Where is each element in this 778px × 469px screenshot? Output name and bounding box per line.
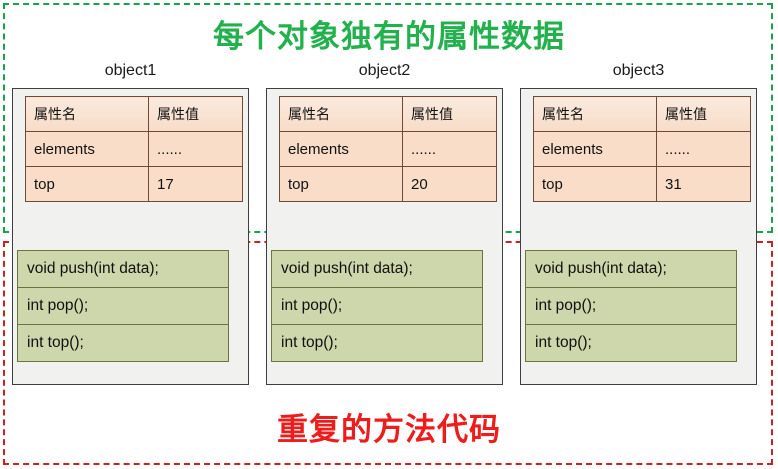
header-attr-name: 属性名 — [26, 97, 149, 132]
method-signature: int pop(); — [272, 288, 483, 325]
attr-name: elements — [26, 132, 149, 167]
method-row: int top(); — [18, 325, 229, 362]
object-label-2: object2 — [266, 62, 503, 80]
method-signature: int top(); — [526, 325, 737, 362]
table-row: top 17 — [26, 167, 243, 202]
header-attr-value: 属性值 — [403, 97, 497, 132]
method-signature: int top(); — [272, 325, 483, 362]
method-signature: int pop(); — [18, 288, 229, 325]
method-row: int top(); — [526, 325, 737, 362]
attr-name: top — [280, 167, 403, 202]
object-label-1: object1 — [12, 62, 249, 80]
method-region-title: 重复的方法代码 — [0, 404, 778, 449]
method-row: int pop(); — [18, 288, 229, 325]
table-header-row: 属性名 属性值 — [280, 97, 497, 132]
attribute-table-2: 属性名 属性值 elements ...... top 20 — [279, 96, 497, 202]
method-row: void push(int data); — [18, 251, 229, 288]
object-card-3: 属性名 属性值 elements ...... top 31 void push… — [520, 88, 757, 385]
method-row: void push(int data); — [526, 251, 737, 288]
attr-value: 17 — [149, 167, 243, 202]
attr-name: top — [26, 167, 149, 202]
object-card-1: 属性名 属性值 elements ...... top 17 void push… — [12, 88, 249, 385]
diagram-canvas: 每个对象独有的属性数据 重复的方法代码 object1 属性名 属性值 elem… — [0, 0, 778, 469]
attr-value: ...... — [657, 132, 751, 167]
attr-name: elements — [534, 132, 657, 167]
method-signature: void push(int data); — [272, 251, 483, 288]
table-row: elements ...... — [26, 132, 243, 167]
object-label-3: object3 — [520, 62, 757, 80]
method-signature: int top(); — [18, 325, 229, 362]
object-card-2: 属性名 属性值 elements ...... top 20 void push… — [266, 88, 503, 385]
method-row: int pop(); — [272, 288, 483, 325]
header-attr-value: 属性值 — [657, 97, 751, 132]
table-row: elements ...... — [280, 132, 497, 167]
table-row: top 20 — [280, 167, 497, 202]
method-signature: int pop(); — [526, 288, 737, 325]
method-signature: void push(int data); — [526, 251, 737, 288]
attr-value: ...... — [403, 132, 497, 167]
method-row: int top(); — [272, 325, 483, 362]
attr-name: top — [534, 167, 657, 202]
method-row: int pop(); — [526, 288, 737, 325]
attribute-table-3: 属性名 属性值 elements ...... top 31 — [533, 96, 751, 202]
method-signature: void push(int data); — [18, 251, 229, 288]
table-header-row: 属性名 属性值 — [26, 97, 243, 132]
header-attr-name: 属性名 — [280, 97, 403, 132]
method-table-1: void push(int data); int pop(); int top(… — [17, 250, 229, 362]
attr-name: elements — [280, 132, 403, 167]
attr-value: ...... — [149, 132, 243, 167]
method-table-2: void push(int data); int pop(); int top(… — [271, 250, 483, 362]
attr-value: 31 — [657, 167, 751, 202]
header-attr-name: 属性名 — [534, 97, 657, 132]
table-row: top 31 — [534, 167, 751, 202]
table-header-row: 属性名 属性值 — [534, 97, 751, 132]
attr-value: 20 — [403, 167, 497, 202]
method-row: void push(int data); — [272, 251, 483, 288]
attribute-table-1: 属性名 属性值 elements ...... top 17 — [25, 96, 243, 202]
header-attr-value: 属性值 — [149, 97, 243, 132]
table-row: elements ...... — [534, 132, 751, 167]
attribute-region-title: 每个对象独有的属性数据 — [0, 11, 778, 56]
method-table-3: void push(int data); int pop(); int top(… — [525, 250, 737, 362]
